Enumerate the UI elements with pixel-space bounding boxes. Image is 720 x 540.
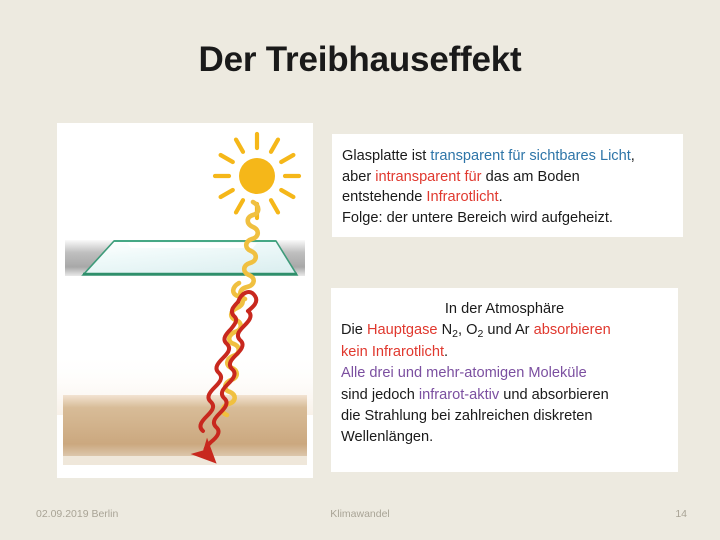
footer-deck-title: Klimawandel <box>0 508 720 520</box>
tb-bottom-line-1: Die Hauptgase N2, O2 und Ar absorbieren <box>341 320 668 342</box>
tb-bottom-l1b: Hauptgase <box>367 322 438 338</box>
tb-top-l2a: aber <box>342 169 375 185</box>
glass-plate <box>83 241 297 275</box>
tb-top-l2c: das am Boden <box>482 169 580 185</box>
tb-bottom-l1c: N <box>438 322 453 338</box>
tb-bottom-l1d: , O <box>458 322 477 338</box>
page-title: Der Treibhauseffekt <box>0 40 720 80</box>
tb-bottom-l4b: infrarot-aktiv <box>419 387 499 403</box>
tb-top-line-1: Glasplatte ist transparent für sichtbare… <box>342 146 673 167</box>
textbox-atmosphere: In der Atmosphäre Die Hauptgase N2, O2 u… <box>331 288 678 472</box>
tb-top-l1a: Glasplatte ist <box>342 148 430 164</box>
greenhouse-effect-illustration <box>57 123 313 478</box>
tb-top-line-2: aber intransparent für das am Boden <box>342 167 673 188</box>
tb-bottom-line-4: sind jedoch infrarot-aktiv und absorbier… <box>341 385 668 406</box>
tb-bottom-l2a: kein Infrarotlicht <box>341 344 444 360</box>
tb-top-l3b: Infrarotlicht <box>426 189 498 205</box>
tb-top-l3a: entstehende <box>342 189 426 205</box>
tb-top-line-4: Folge: der untere Bereich wird aufgeheiz… <box>342 208 673 229</box>
tb-bottom-l2b: . <box>444 344 448 360</box>
textbox-glass-plate: Glasplatte ist transparent für sichtbare… <box>332 134 683 237</box>
tb-bottom-l1f: absorbieren <box>534 322 611 338</box>
tb-bottom-l4c: und absorbieren <box>499 387 609 403</box>
footer-page-number: 14 <box>675 508 687 520</box>
tb-bottom-line-3: Alle drei und mehr-atomigen Moleküle <box>341 363 668 384</box>
tb-bottom-line-6: Wellenlängen. <box>341 427 668 448</box>
tb-top-l3c: . <box>499 189 503 205</box>
tb-bottom-line-2: kein Infrarotlicht. <box>341 342 668 363</box>
tb-top-l1b: transparent für sichtbares Licht <box>430 148 630 164</box>
tb-bottom-l1e: und Ar <box>483 322 533 338</box>
tb-bottom-l4a: sind jedoch <box>341 387 419 403</box>
tb-top-l2b: intransparent für <box>375 169 481 185</box>
tb-top-l1c: , <box>631 148 635 164</box>
tb-bottom-line-5: die Strahlung bei zahlreichen diskreten <box>341 406 668 427</box>
slide-footer: 02.09.2019 Berlin Klimawandel 14 <box>0 508 720 528</box>
tb-bottom-heading: In der Atmosphäre <box>341 299 668 320</box>
tb-bottom-l1a: Die <box>341 322 367 338</box>
tb-top-line-3: entstehende Infrarotlicht. <box>342 187 673 208</box>
ground-band <box>63 395 307 465</box>
